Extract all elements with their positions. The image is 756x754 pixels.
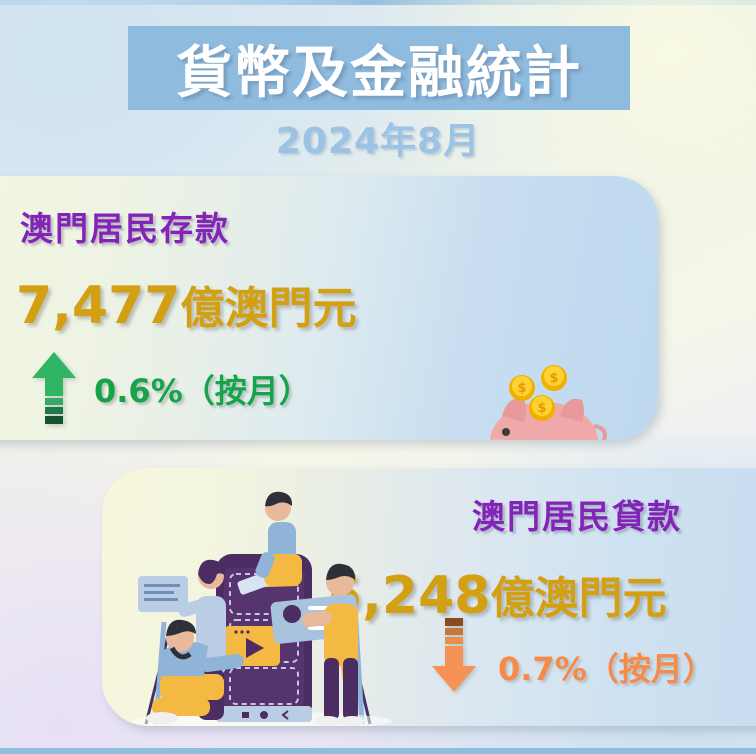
card-deposits-change-period: （按月）	[183, 372, 311, 410]
card-loans-value-unit: 億澳門元	[490, 573, 666, 624]
card-loans-change-period: （按月）	[587, 650, 715, 688]
card-loans-heading: 澳門居民貸款	[472, 490, 682, 538]
svg-text:$: $	[537, 401, 546, 416]
people-smartphone-content-illustration	[112, 478, 412, 726]
card-deposits-value-number: 7,477	[16, 276, 180, 336]
card-loans-change-value: 0.7%	[498, 650, 587, 688]
arrow-down-icon	[432, 618, 476, 692]
page-subtitle: 2024年8月	[0, 112, 756, 164]
page-header: 貨幣及金融統計 2024年8月	[0, 0, 756, 170]
svg-text:$: $	[549, 371, 558, 386]
arrow-up-icon	[32, 352, 76, 426]
card-deposits-value: 7,477億澳門元	[16, 272, 356, 336]
card-deposits-value-unit: 億澳門元	[180, 283, 356, 334]
card-deposits-heading: 澳門居民存款	[20, 202, 230, 250]
card-loans-change: 0.7%（按月）	[498, 644, 715, 690]
card-loans: 澳門居民貸款 5,248億澳門元 0.7%（按月）	[102, 468, 756, 726]
card-deposits-change-value: 0.6%	[94, 372, 183, 410]
svg-text:$: $	[517, 381, 526, 396]
card-deposits: 澳門居民存款 7,477億澳門元 0.6%（按月）	[0, 176, 658, 440]
bottom-edge-strip	[0, 748, 756, 754]
infographic-page: 貨幣及金融統計 2024年8月 澳門居民存款 7,477億澳門元 0.6%（按月…	[0, 0, 756, 754]
page-title: 貨幣及金融統計	[128, 26, 630, 110]
piggy-bank-money-growth-illustration: $ $	[390, 364, 640, 440]
card-deposits-change: 0.6%（按月）	[94, 366, 311, 412]
person-top-laptop-shape	[237, 492, 302, 596]
